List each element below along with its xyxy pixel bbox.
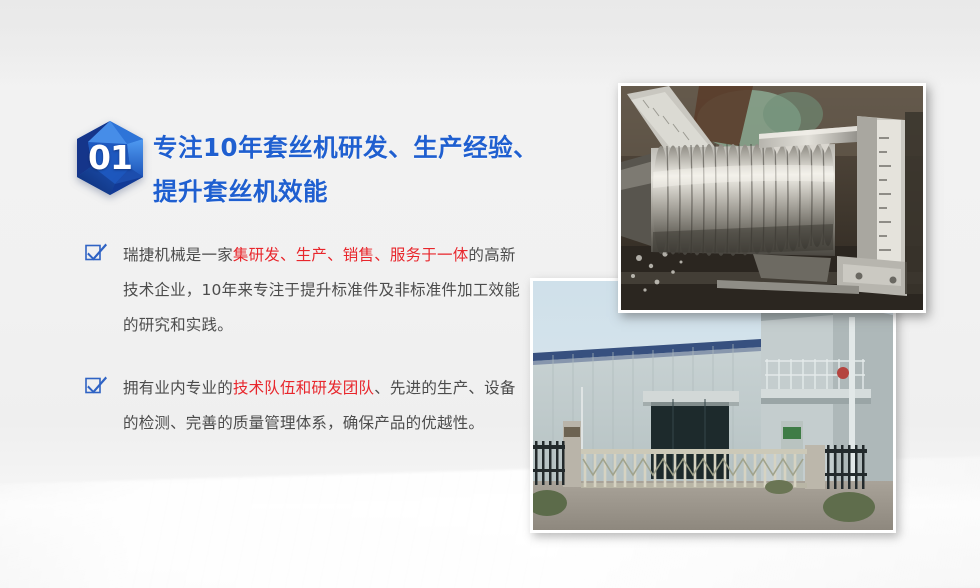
list-item-text: 瑞捷机械是一家集研发、生产、销售、服务于一体的高新技术企业，10年来专注于提升标… bbox=[123, 238, 525, 343]
section-title: 专注10年套丝机研发、生产经验、 提升套丝机效能 bbox=[153, 126, 553, 214]
plain-text: 拥有业内专业的 bbox=[123, 379, 233, 397]
list-item: 瑞捷机械是一家集研发、生产、销售、服务于一体的高新技术企业，10年来专注于提升标… bbox=[85, 238, 525, 343]
checkbox-check-icon bbox=[85, 375, 107, 395]
feature-list: 瑞捷机械是一家集研发、生产、销售、服务于一体的高新技术企业，10年来专注于提升标… bbox=[85, 238, 525, 469]
badge-number: 01 bbox=[70, 118, 150, 198]
hexagon-gem-badge: 01 bbox=[70, 118, 150, 198]
highlighted-text: 技术队伍和研发团队 bbox=[233, 379, 374, 397]
highlighted-text: 集研发、生产、销售、服务于一体 bbox=[233, 246, 469, 264]
list-item-text: 拥有业内专业的技术队伍和研发团队、先进的生产、设备的检测、完善的质量管理体系，确… bbox=[123, 371, 525, 441]
promo-section: 01 专注10年套丝机研发、生产经验、 提升套丝机效能 瑞捷机械是一家集研发、生… bbox=[0, 0, 980, 588]
plain-text: 瑞捷机械是一家 bbox=[123, 246, 233, 264]
factory-building-photo bbox=[530, 278, 896, 533]
content-column: 01 专注10年套丝机研发、生产经验、 提升套丝机效能 瑞捷机械是一家集研发、生… bbox=[0, 0, 560, 588]
threaded-rod-caliper-photo bbox=[618, 83, 926, 313]
checkbox-check-icon bbox=[85, 242, 107, 262]
list-item: 拥有业内专业的技术队伍和研发团队、先进的生产、设备的检测、完善的质量管理体系，确… bbox=[85, 371, 525, 441]
